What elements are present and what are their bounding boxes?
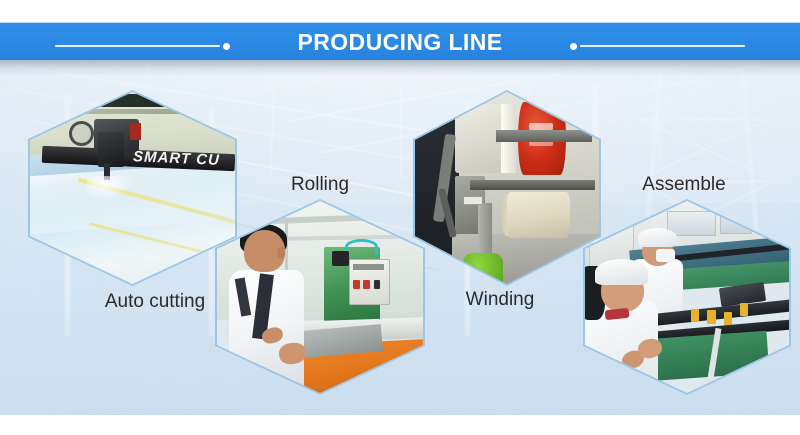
deco-dot-right-icon [570,43,577,50]
bottom-white-margin [0,415,800,435]
section-banner: PRODUCING LINE [0,22,800,60]
stage-label-winding: Winding [410,289,590,311]
machine-brand-text: SMART CU [132,148,220,169]
stage-label-rolling: Rolling [220,174,420,196]
top-white-margin [0,0,800,22]
stage-label-assemble: Assemble [580,174,788,196]
deco-line-right [570,42,745,50]
producing-line-banner-page: PRODUCING LINE SM [0,0,800,435]
deco-rail-right-icon [580,45,745,47]
